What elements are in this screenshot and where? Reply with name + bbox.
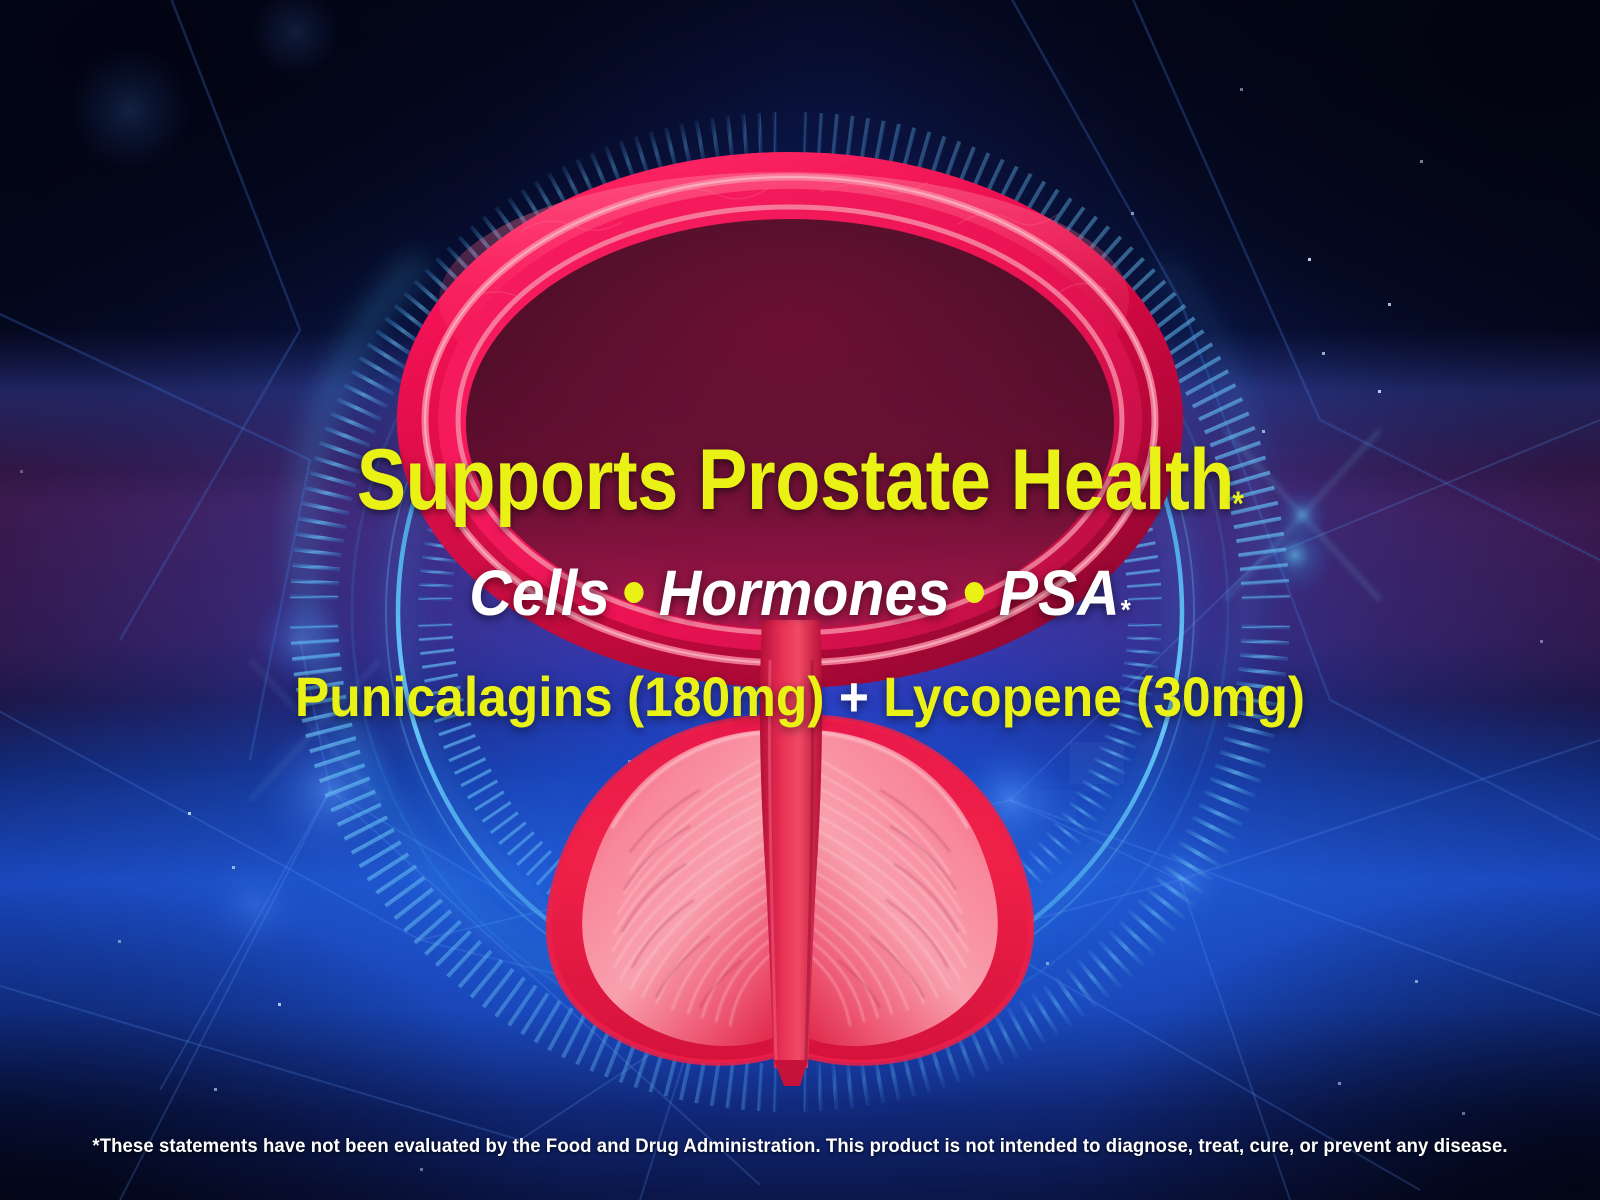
urethra-tip [774, 1060, 808, 1086]
bladder [397, 152, 1183, 688]
bladder-prostate-illustration [0, 0, 1600, 1200]
promo-banner: Supports Prostate Health* CellsHormonesP… [0, 0, 1600, 1200]
